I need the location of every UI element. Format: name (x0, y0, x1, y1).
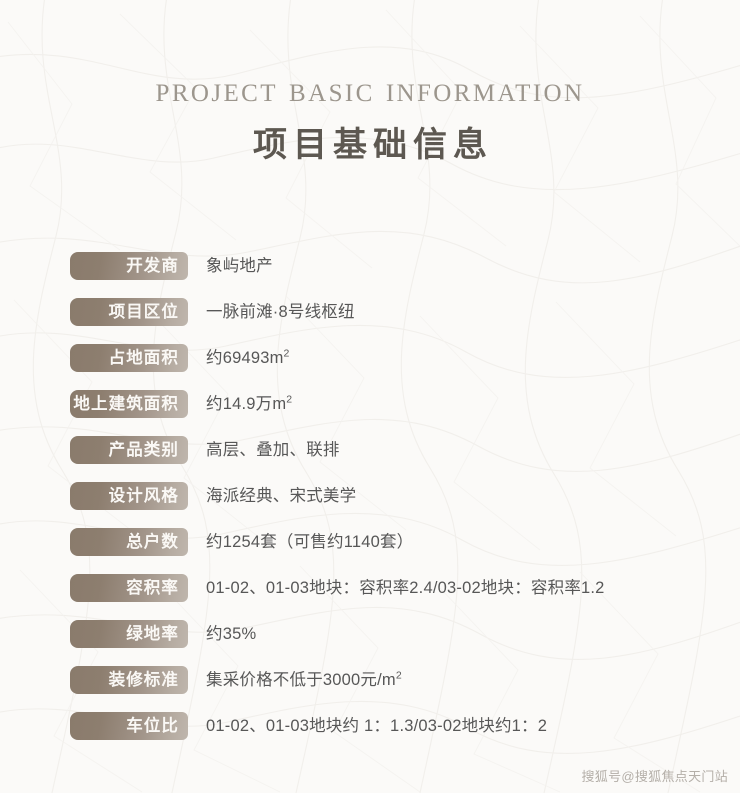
info-row: 项目区位一脉前滩·8号线枢纽 (0, 298, 740, 326)
info-row-value: 01-02、01-03地块：容积率2.4/03-02地块：容积率1.2 (206, 574, 740, 602)
info-row-value: 高层、叠加、联排 (206, 436, 740, 464)
project-info-list: 开发商象屿地产项目区位一脉前滩·8号线枢纽占地面积约69493m2地上建筑面积约… (0, 252, 740, 758)
info-row-value: 集采价格不低于3000元/m2 (206, 666, 740, 694)
info-row-value: 约69493m2 (206, 344, 740, 372)
info-row: 装修标准集采价格不低于3000元/m2 (0, 666, 740, 694)
info-row: 地上建筑面积约14.9万m2 (0, 390, 740, 418)
info-row-label: 装修标准 (70, 666, 188, 694)
info-row-value: 海派经典、宋式美学 (206, 482, 740, 510)
info-row-value: 01-02、01-03地块约 1：1.3/03-02地块约1：2 (206, 712, 740, 740)
watermark: 搜狐号@搜狐焦点天门站 (582, 766, 729, 785)
info-row: 总户数约1254套（可售约1140套） (0, 528, 740, 556)
info-row-label: 设计风格 (70, 482, 188, 510)
info-row: 容积率01-02、01-03地块：容积率2.4/03-02地块：容积率1.2 (0, 574, 740, 602)
info-row-label: 地上建筑面积 (70, 390, 188, 418)
info-row-label: 容积率 (70, 574, 188, 602)
info-row-value: 一脉前滩·8号线枢纽 (206, 298, 740, 326)
page-header: Project Basic Information 项目基础信息 (0, 0, 740, 168)
info-row: 设计风格海派经典、宋式美学 (0, 482, 740, 510)
info-row-label: 开发商 (70, 252, 188, 280)
info-row-value: 约1254套（可售约1140套） (206, 528, 740, 556)
page-title-chinese: 项目基础信息 (0, 124, 740, 168)
info-row-value: 约35% (206, 620, 740, 648)
info-row-label: 总户数 (70, 528, 188, 556)
info-row: 车位比01-02、01-03地块约 1：1.3/03-02地块约1：2 (0, 712, 740, 740)
info-row-label: 产品类别 (70, 436, 188, 464)
info-row-label: 车位比 (70, 712, 188, 740)
info-row: 占地面积约69493m2 (0, 344, 740, 372)
info-row-label: 项目区位 (70, 298, 188, 326)
info-row: 绿地率约35% (0, 620, 740, 648)
info-row: 产品类别高层、叠加、联排 (0, 436, 740, 464)
info-row-label: 绿地率 (70, 620, 188, 648)
page-title-english: Project Basic Information (0, 68, 740, 112)
info-row: 开发商象屿地产 (0, 252, 740, 280)
project-info-page: Project Basic Information 项目基础信息 开发商象屿地产… (0, 0, 740, 793)
info-row-label: 占地面积 (70, 344, 188, 372)
info-row-value: 约14.9万m2 (206, 390, 740, 418)
info-row-value: 象屿地产 (206, 252, 740, 280)
